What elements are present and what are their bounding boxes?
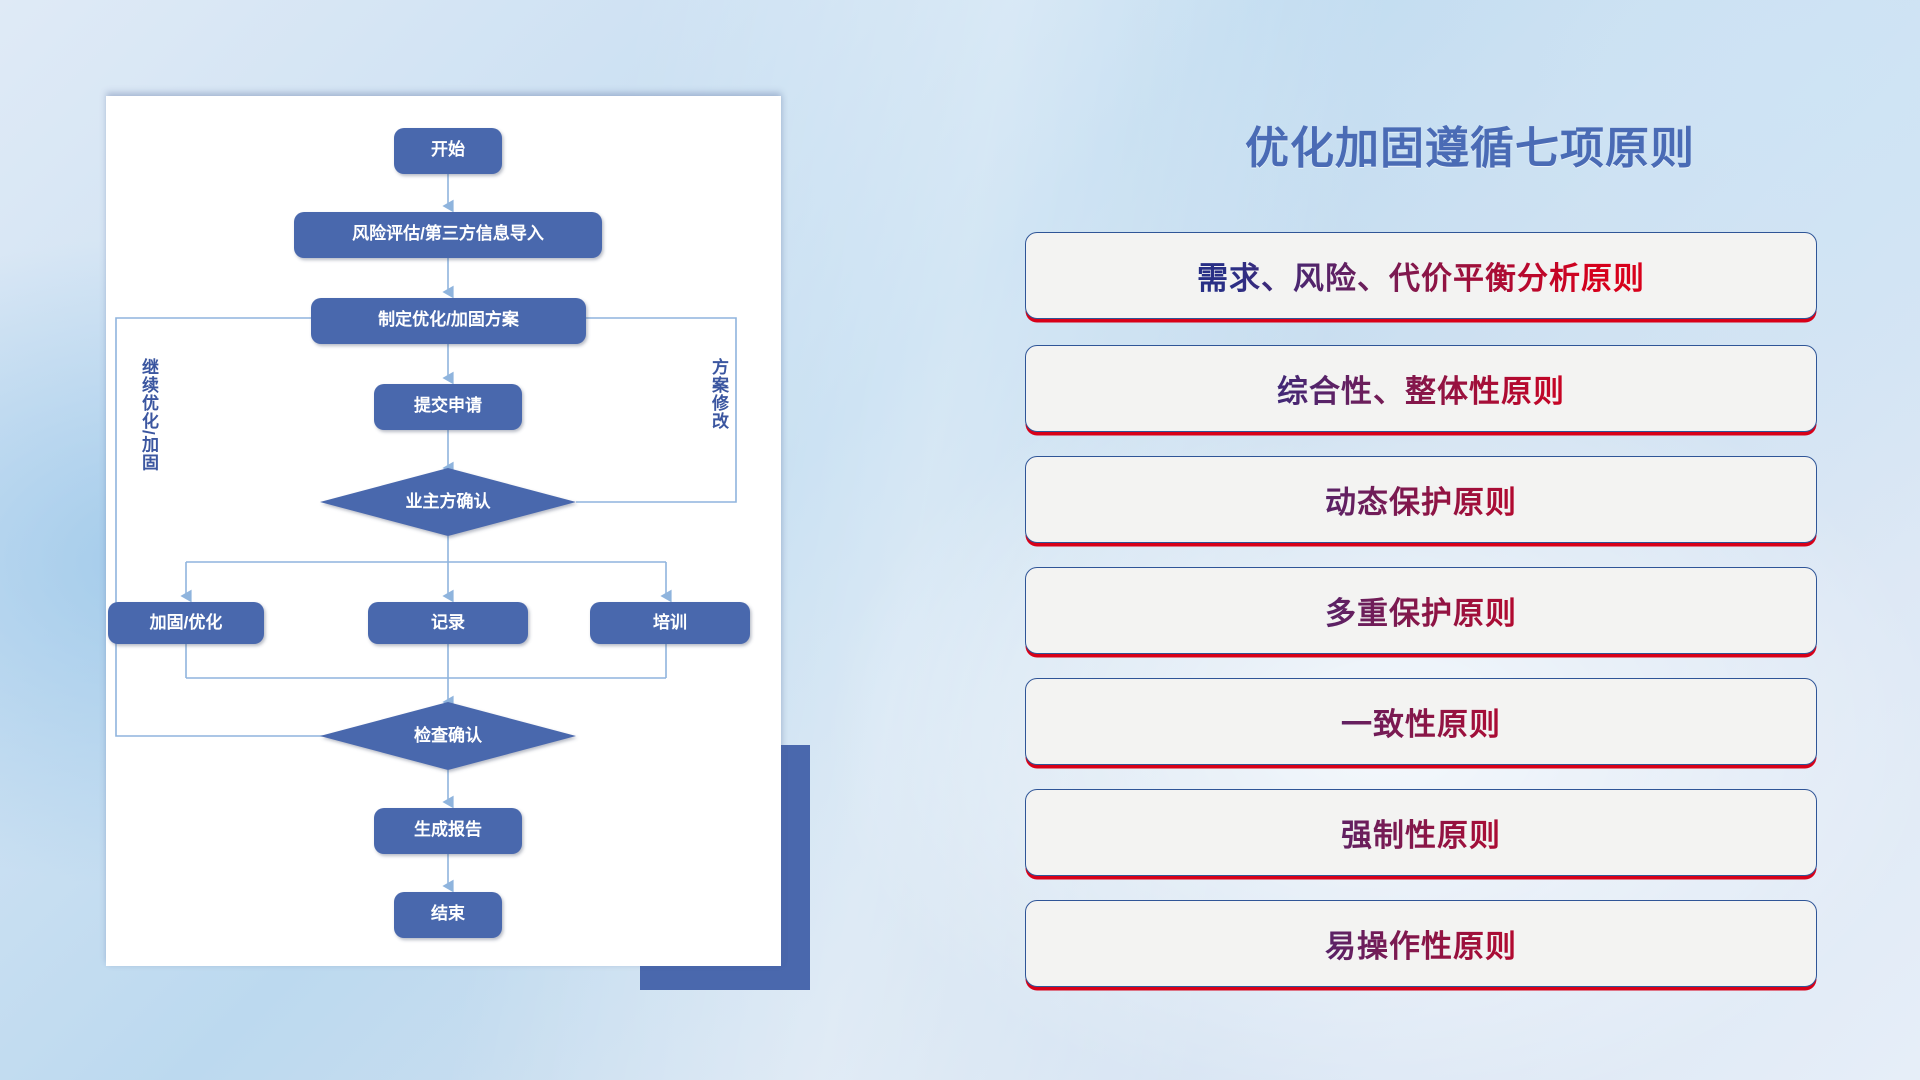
flow-node-check-label: 检查确认 [348, 727, 548, 746]
principle-card-2-label: 综合性、整体性原则 [1026, 346, 1816, 431]
flow-node-report-label: 生成报告 [374, 821, 522, 840]
principle-card-1[interactable]: 需求、风险、代价平衡分析原则 [1025, 232, 1817, 319]
flow-node-start-label: 开始 [394, 141, 502, 160]
flowchart-card: 开始 风险评估/第三方信息导入 制定优化/加固方案 提交申请 业主方确认 加固/… [106, 96, 781, 966]
flow-node-submit-label: 提交申请 [374, 397, 522, 416]
principle-card-5[interactable]: 一致性原则 [1025, 678, 1817, 765]
principle-card-1-label: 需求、风险、代价平衡分析原则 [1026, 233, 1816, 318]
principle-card-4-label: 多重保护原则 [1026, 568, 1816, 653]
principle-card-6[interactable]: 强制性原则 [1025, 789, 1817, 876]
flow-node-owner-label: 业主方确认 [348, 493, 548, 512]
edge-label-continue-optimize: 继续优化/加固 [136, 358, 161, 472]
flow-node-plan-label: 制定优化/加固方案 [311, 311, 586, 330]
principle-card-7[interactable]: 易操作性原则 [1025, 900, 1817, 987]
principle-card-6-label: 强制性原则 [1026, 790, 1816, 875]
flow-node-reinforce-label: 加固/优化 [108, 614, 264, 633]
flow-node-record-label: 记录 [368, 614, 528, 633]
principle-card-5-label: 一致性原则 [1026, 679, 1816, 764]
principle-card-3-label: 动态保护原则 [1026, 457, 1816, 542]
edge-label-plan-revision: 方案修改 [706, 358, 731, 430]
principle-card-7-label: 易操作性原则 [1026, 901, 1816, 986]
flow-node-end-label: 结束 [394, 905, 502, 924]
principle-card-4[interactable]: 多重保护原则 [1025, 567, 1817, 654]
principle-card-2[interactable]: 综合性、整体性原则 [1025, 345, 1817, 432]
flow-node-train-label: 培训 [590, 614, 750, 633]
page-title: 优化加固遵循七项原则 [1150, 112, 1790, 176]
flow-node-risk-label: 风险评估/第三方信息导入 [294, 225, 602, 244]
principles-panel: 优化加固遵循七项原则 需求、风险、代价平衡分析原则 综合性、整体性原则 动态保护… [1020, 0, 1920, 1080]
principle-card-3[interactable]: 动态保护原则 [1025, 456, 1817, 543]
